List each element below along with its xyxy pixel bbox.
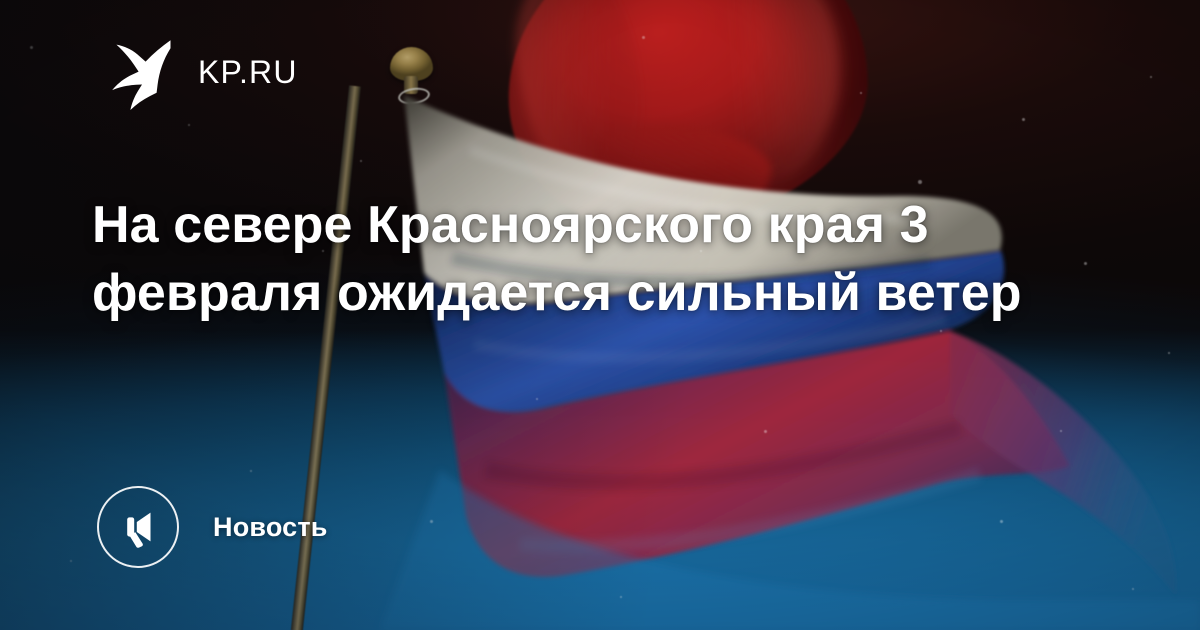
label-text: Новость [213, 514, 328, 541]
headline: На севере Красноярского края 3 февраля о… [92, 192, 1047, 327]
brand-name: KP.RU [198, 56, 298, 88]
brand-logo[interactable]: KP.RU [104, 34, 298, 110]
content-type-label[interactable]: Новость [97, 486, 328, 568]
megaphone-icon [116, 505, 160, 549]
card-content: KP.RU На севере Красноярского края 3 фев… [0, 0, 1200, 630]
news-share-card: KP.RU На севере Красноярского края 3 фев… [0, 0, 1200, 630]
kp-swallow-bird-icon [104, 34, 180, 110]
label-badge [97, 486, 179, 568]
